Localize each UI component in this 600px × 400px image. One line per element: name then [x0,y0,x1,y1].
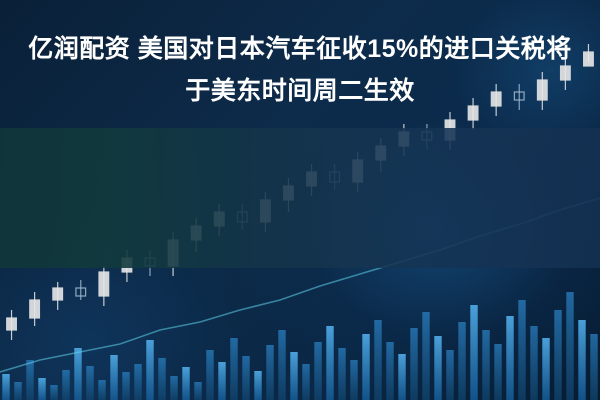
volume-bar [578,320,585,400]
volume-bar [566,292,573,400]
volume-bar [374,320,381,400]
volume-bar [62,370,69,400]
volume-bar [98,380,105,400]
volume-bar [158,358,165,400]
volume-bar [290,352,297,400]
volume-bar [350,360,357,400]
image-canvas: 亿润配资 美国对日本汽车征收15%的进口关税将 于美东时间周二生效 [0,0,600,400]
volume-bar [122,372,129,400]
volume-bar [278,330,285,400]
volume-bar [50,385,57,400]
volume-bar [74,348,81,400]
volume-bar [14,382,21,400]
volume-bar [458,322,465,400]
volume-bar [134,364,141,400]
volume-bar [314,342,321,400]
candle-body [53,288,63,300]
headline-line-1: 亿润配资 美国对日本汽车征收15%的进口关税将 [28,28,571,70]
candle-body [99,272,109,296]
volume-bar [326,326,333,400]
volume-bar [506,316,513,400]
volume-bar [86,366,93,400]
candle-body [30,300,40,318]
candle-body [7,318,17,330]
volume-bars-group [2,292,597,400]
volume-bar [170,376,177,400]
volume-bar [530,326,537,400]
volume-bar [110,355,117,400]
volume-bar [398,354,405,400]
volume-bar [206,350,213,400]
volume-bar [410,328,417,400]
volume-bar [446,350,453,400]
volume-bar [194,382,201,400]
volume-bar [182,367,189,400]
volume-bar [482,330,489,400]
volume-bar [422,312,429,400]
volume-bar [2,374,9,400]
volume-bar [494,344,501,400]
volume-bar [26,360,33,400]
volume-bar [542,338,549,400]
volume-bar [470,305,477,400]
volume-bar [434,336,441,400]
volume-bar [590,334,597,400]
volume-bar [242,356,249,400]
headline-container: 亿润配资 美国对日本汽车征收15%的进口关税将 于美东时间周二生效 [0,0,600,140]
volume-bar [554,310,561,400]
volume-bar [230,338,237,400]
headline-line-2: 于美东时间周二生效 [185,70,415,112]
volume-bar [254,371,261,400]
volume-bar [266,345,273,400]
volume-bar [38,378,45,400]
volume-bar [362,334,369,400]
volume-bar [146,340,153,400]
headline-band [0,128,600,268]
volume-bar [338,348,345,400]
volume-bar [218,362,225,400]
volume-bar [302,364,309,400]
volume-bar [386,342,393,400]
volume-bar [518,300,525,400]
